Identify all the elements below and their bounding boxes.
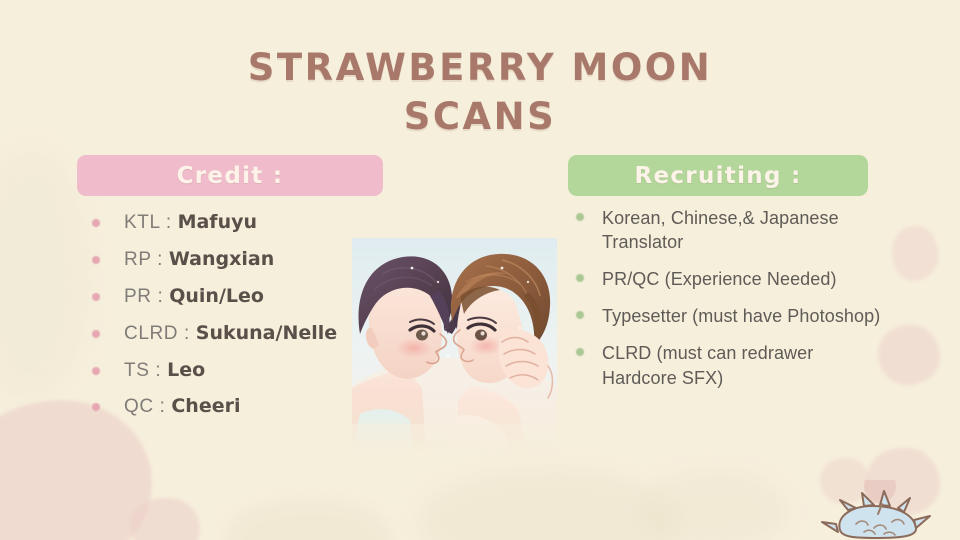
credit-name: Cheeri: [171, 395, 240, 417]
blue-spiky-creature-doodle: [818, 480, 946, 540]
bullet-icon: [92, 403, 100, 411]
credit-name: Leo: [167, 359, 205, 381]
credit-entry: KTL : Mafuyu: [124, 212, 257, 234]
recruiting-entry: CLRD (must can redrawer Hardcore SFX): [602, 341, 888, 389]
credit-entry: PR : Quin/Leo: [124, 286, 264, 308]
bullet-icon: [576, 213, 584, 221]
bullet-icon: [92, 367, 100, 375]
recruiting-banner-label: Recruiting :: [634, 163, 801, 189]
list-item: RP : Wangxian: [92, 249, 362, 271]
list-item: CLRD : Sukuna/Nelle: [92, 323, 362, 345]
background-blob: [418, 468, 678, 540]
credit-entry: RP : Wangxian: [124, 249, 274, 271]
credit-role: RP :: [124, 249, 169, 270]
page-title-line-2: SCANS: [0, 93, 960, 142]
bullet-icon: [576, 274, 584, 282]
list-item: Korean, Chinese,& Japanese Translator: [576, 206, 888, 254]
credit-role: TS :: [124, 360, 167, 381]
page-title-line-1: STRAWBERRY MOON: [0, 44, 960, 93]
credit-entry: QC : Cheeri: [124, 396, 240, 418]
credit-entry: TS : Leo: [124, 360, 205, 382]
recruiting-entry: Korean, Chinese,& Japanese Translator: [602, 206, 888, 254]
list-item: PR/QC (Experience Needed): [576, 267, 888, 291]
credit-name: Quin/Leo: [169, 285, 264, 307]
list-item: KTL : Mafuyu: [92, 212, 362, 234]
background-blob: [130, 498, 200, 540]
credit-role: PR :: [124, 286, 169, 307]
list-item: PR : Quin/Leo: [92, 286, 362, 308]
credit-entry: CLRD : Sukuna/Nelle: [124, 323, 337, 345]
bullet-icon: [92, 293, 100, 301]
bullet-icon: [576, 348, 584, 356]
list-item: CLRD (must can redrawer Hardcore SFX): [576, 341, 888, 389]
bullet-icon: [92, 256, 100, 264]
bullet-icon: [92, 330, 100, 338]
recruiting-entry: PR/QC (Experience Needed): [602, 267, 837, 291]
credit-role: CLRD :: [124, 323, 196, 344]
background-blob: [892, 226, 938, 281]
poster-canvas: STRAWBERRY MOON SCANS Credit : Recruitin…: [0, 0, 960, 540]
list-item: Typesetter (must have Photoshop): [576, 304, 888, 328]
credit-name: Sukuna/Nelle: [196, 322, 337, 344]
recruiting-list: Korean, Chinese,& Japanese Translator PR…: [576, 206, 888, 403]
credit-banner: Credit :: [77, 155, 383, 196]
credit-list: KTL : Mafuyu RP : Wangxian PR : Quin/Leo…: [92, 212, 362, 433]
credit-banner-label: Credit :: [177, 163, 284, 189]
background-blob: [640, 470, 790, 540]
page-title: STRAWBERRY MOON SCANS: [0, 44, 960, 142]
bullet-icon: [576, 311, 584, 319]
list-item: TS : Leo: [92, 360, 362, 382]
artwork-illustration: [352, 238, 557, 453]
credit-role: KTL :: [124, 212, 178, 233]
credit-name: Wangxian: [169, 248, 274, 270]
list-item: QC : Cheeri: [92, 396, 362, 418]
bullet-icon: [92, 219, 100, 227]
credit-role: QC :: [124, 396, 171, 417]
background-blob: [224, 498, 394, 540]
recruiting-entry: Typesetter (must have Photoshop): [602, 304, 880, 328]
recruiting-banner: Recruiting :: [568, 155, 868, 196]
credit-name: Mafuyu: [178, 211, 257, 233]
